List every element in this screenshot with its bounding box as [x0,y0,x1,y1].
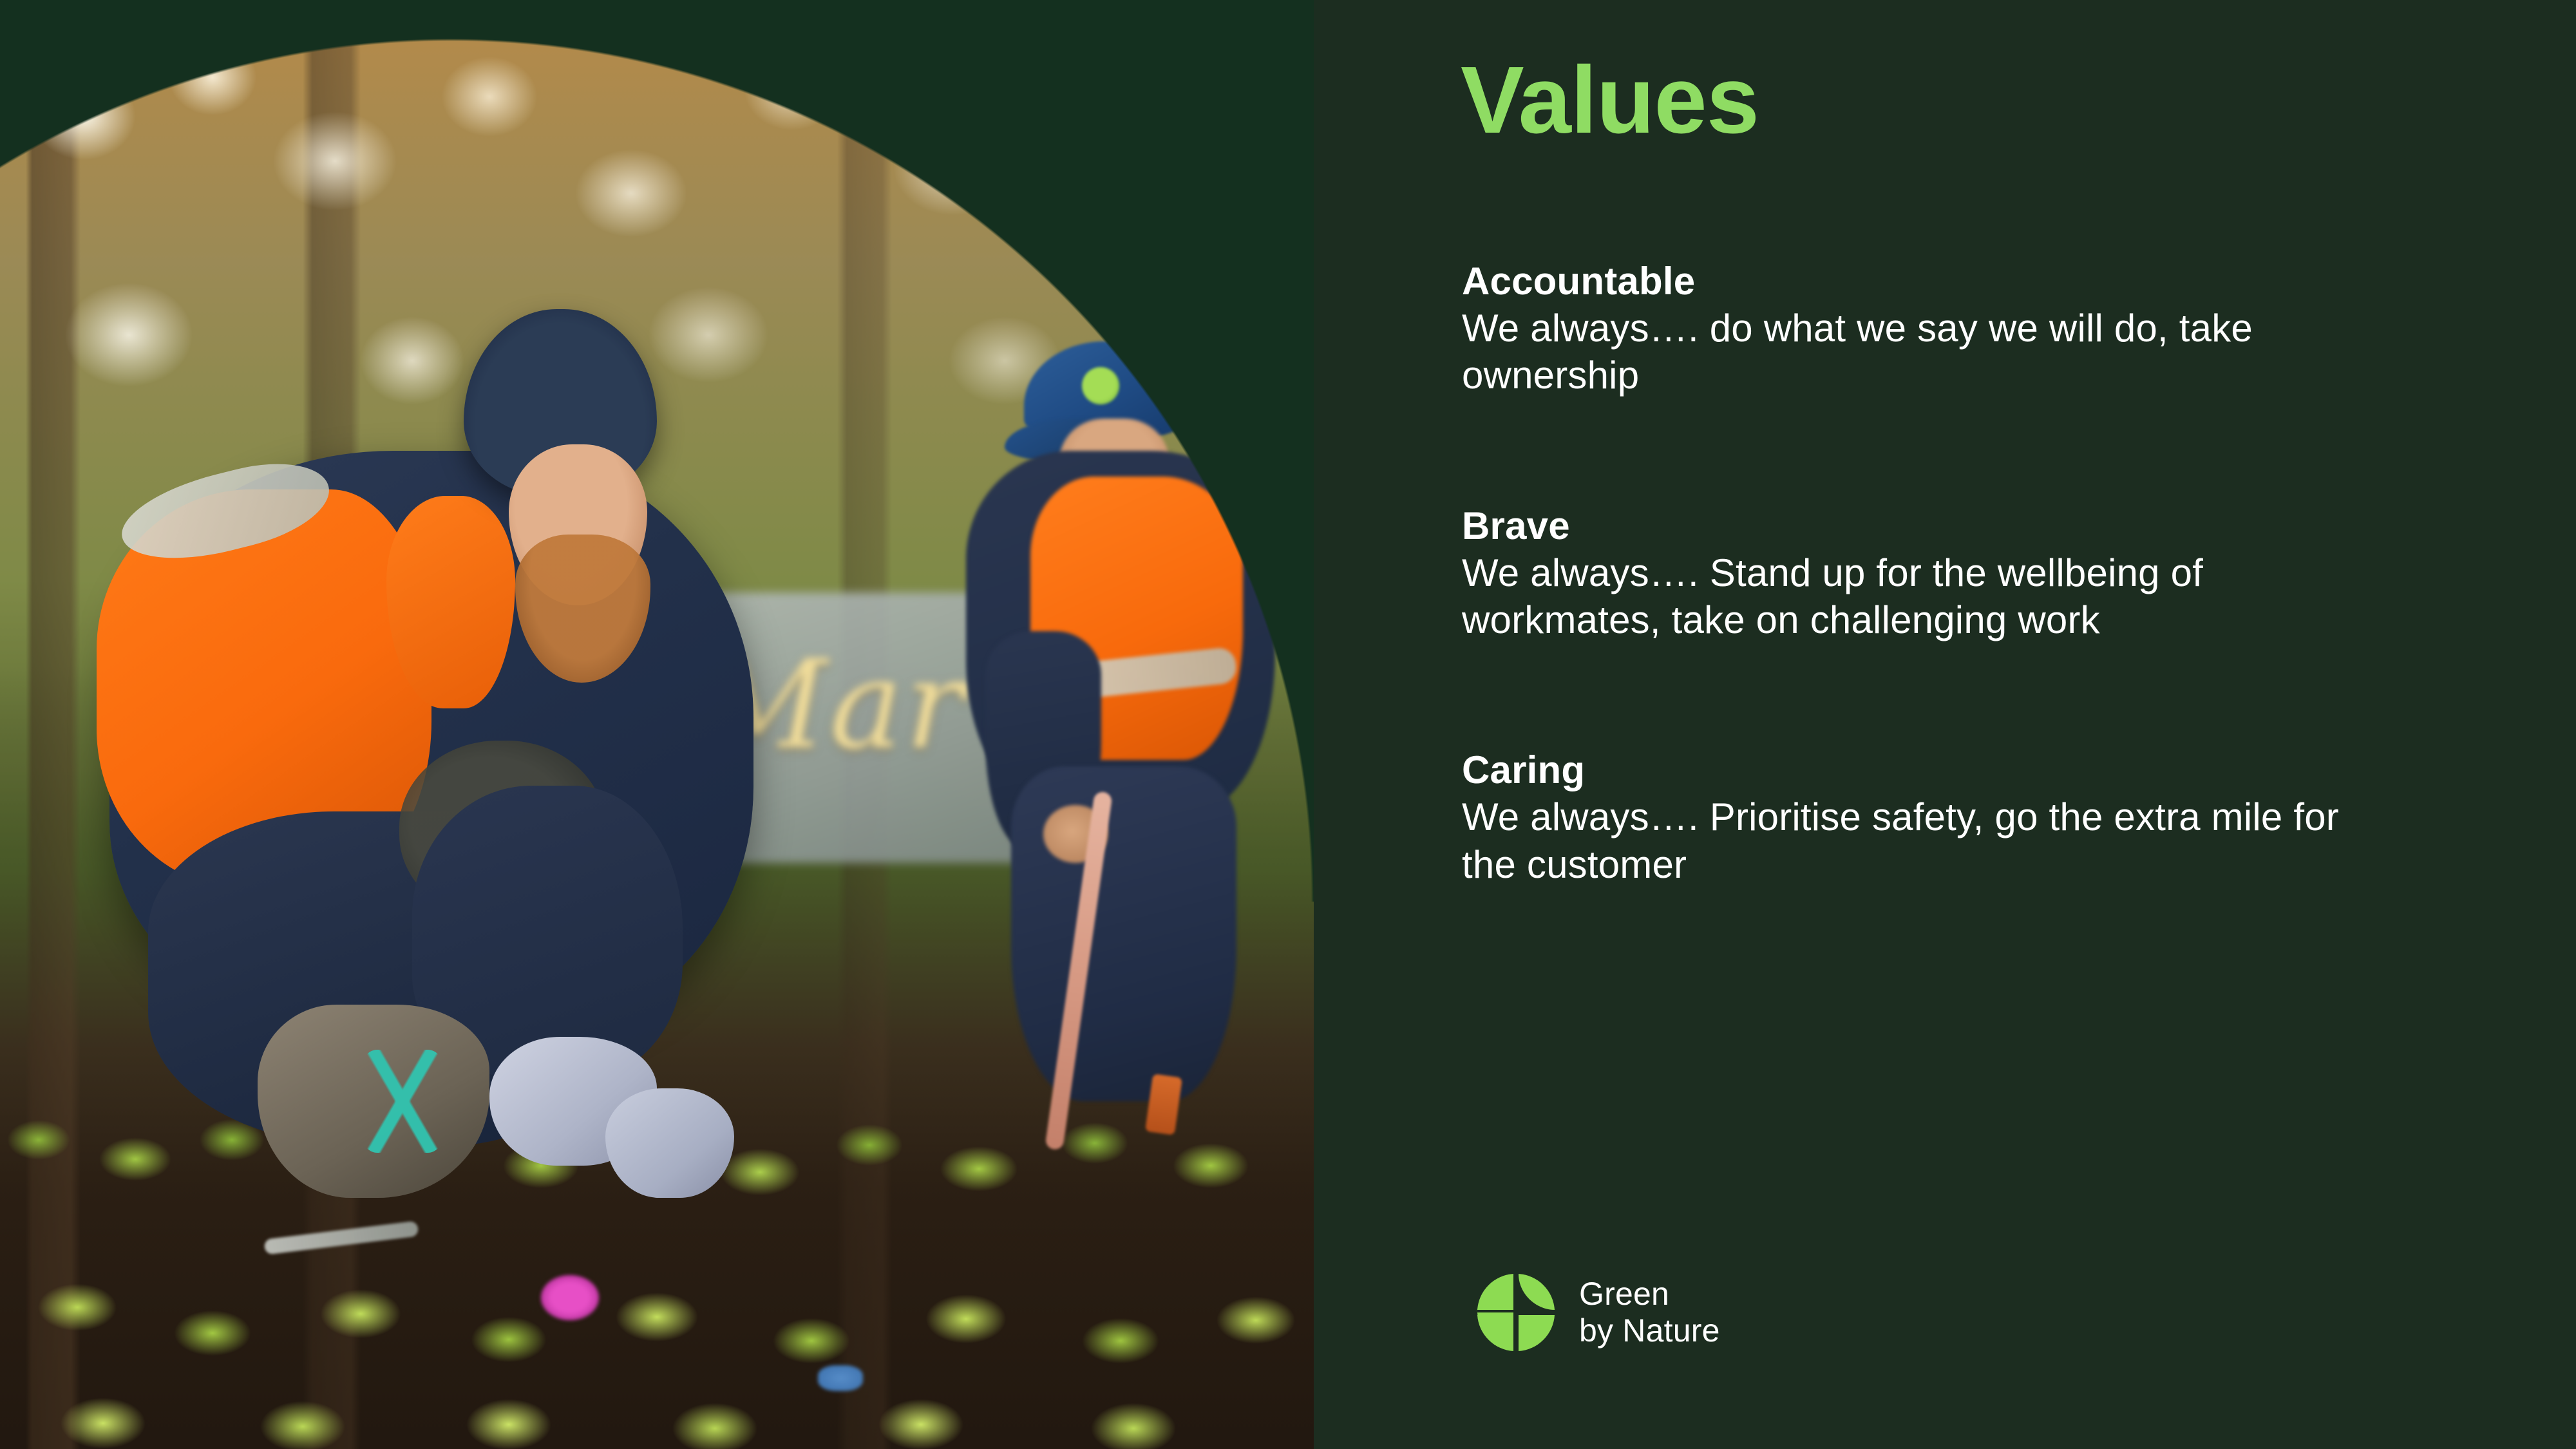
green-by-nature-logo-icon [1475,1271,1557,1354]
content-panel: Values Accountable We always…. do what w… [1314,0,2576,1449]
slide-root: Mar Values Acco [0,0,2576,1449]
brand-logo-wordmark: Green by Nature [1579,1276,1720,1349]
value-item-brave: Brave We always…. Stand up for the wellb… [1462,502,2389,644]
value-name: Brave [1462,502,2389,549]
page-title: Values [1461,50,1759,150]
value-description: We always…. Prioritise safety, go the ex… [1462,793,2389,887]
brand-logo-line2: by Nature [1579,1312,1720,1349]
value-name: Caring [1462,746,2389,793]
value-description: We always…. do what we say we will do, t… [1462,305,2389,399]
value-item-accountable: Accountable We always…. do what we say w… [1462,258,2389,399]
value-name: Accountable [1462,258,2389,305]
photo-blue-plant-tag [818,1365,863,1391]
photo-worker-a-glove-right [605,1088,734,1198]
photo-pink-flower [541,1275,599,1320]
photo-worker-b-cap-logo [1082,367,1119,404]
value-description: We always…. Stand up for the wellbeing o… [1462,549,2389,643]
brand-logo: Green by Nature [1475,1271,1720,1354]
photo-worker-b-legs [1011,766,1236,1101]
hero-photo-panel: Mar [0,0,1314,1449]
photo-worker-a-boot-laces [361,1050,444,1153]
value-item-caring: Caring We always…. Prioritise safety, go… [1462,746,2389,888]
brand-logo-line1: Green [1579,1276,1720,1312]
photo-worker-a-vest-shoulder [386,496,515,708]
values-list: Accountable We always…. do what we say w… [1462,258,2389,888]
